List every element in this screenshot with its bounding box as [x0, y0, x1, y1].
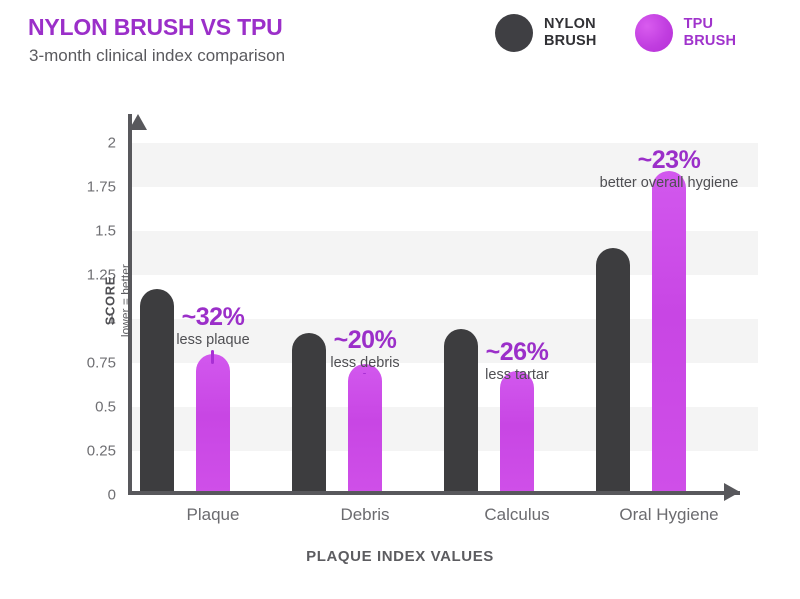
annotation-percent: ~20%	[280, 327, 450, 353]
x-axis-title: PLAQUE INDEX VALUES	[0, 548, 800, 565]
y-axis-tick-label: 0.25	[87, 443, 116, 460]
legend-swatch-nylon-icon	[495, 14, 533, 52]
y-axis-tick-label: 1.75	[87, 179, 116, 196]
annotation-connector-line	[211, 350, 214, 364]
annotation-percent: ~26%	[432, 339, 602, 365]
bar-annotation: ~20%less debris	[280, 327, 450, 373]
bar-annotation: ~23%better overall hygiene	[584, 147, 754, 193]
infographic-chart: NYLON BRUSH VS TPU 3-month clinical inde…	[0, 0, 800, 599]
x-axis-tick-label: Plaque	[128, 505, 298, 525]
bar-group: ~20%less debrisDebris	[286, 139, 438, 491]
bar-tpu[interactable]	[652, 171, 686, 491]
y-axis-tick-label: 2	[108, 135, 116, 152]
legend-label-tpu: TPU BRUSH	[684, 16, 737, 50]
x-axis-line	[128, 491, 740, 495]
x-axis-tick-label: Calculus	[432, 505, 602, 525]
page-subtitle: 3-month clinical index comparison	[29, 46, 285, 66]
bar-tpu[interactable]	[196, 354, 230, 491]
legend-label-tpu-line1: TPU	[684, 16, 714, 32]
bar-group: ~32%less plaquePlaque	[134, 139, 286, 491]
bar-nylon[interactable]	[596, 248, 630, 491]
legend-item-nylon-brush[interactable]: NYLON BRUSH	[495, 14, 597, 52]
legend-label-nylon-line1: NYLON	[544, 16, 596, 32]
bar-annotation: ~32%less plaque	[128, 304, 298, 350]
legend-label-nylon-line2: BRUSH	[544, 33, 597, 49]
legend-label-nylon: NYLON BRUSH	[544, 16, 597, 50]
annotation-percent: ~32%	[128, 304, 298, 330]
page-title: NYLON BRUSH VS TPU	[28, 14, 283, 41]
x-axis-tick-label: Debris	[280, 505, 450, 525]
bar-tpu[interactable]	[348, 364, 382, 491]
x-axis-tick-label: Oral Hygiene	[584, 505, 754, 525]
bar-group: ~23%better overall hygieneOral Hygiene	[590, 139, 742, 491]
bar-annotation: ~26%less tartar	[432, 339, 602, 385]
y-axis-tick-label: 0	[108, 487, 116, 504]
y-axis-arrow-icon	[129, 114, 147, 130]
annotation-caption: better overall hygiene	[584, 175, 754, 193]
y-axis-tick-label: 0.5	[95, 399, 116, 416]
bar-group: ~26%less tartarCalculus	[438, 139, 590, 491]
annotation-caption: less tartar	[432, 367, 602, 385]
bar-tpu[interactable]	[500, 371, 534, 491]
annotation-caption: less debris	[280, 355, 450, 373]
legend-label-tpu-line2: BRUSH	[684, 33, 737, 49]
bar-groups: ~32%less plaquePlaque~20%less debrisDebr…	[134, 139, 740, 491]
chart-legend: NYLON BRUSH TPU BRUSH	[495, 14, 736, 52]
y-axis-label-main: SCORE	[102, 211, 118, 391]
plot-area: 21.751.51.2510.750.50.250 SCORE lower = …	[120, 100, 758, 495]
annotation-caption: less plaque	[128, 332, 298, 350]
legend-swatch-tpu-icon	[635, 14, 673, 52]
legend-item-tpu-brush[interactable]: TPU BRUSH	[635, 14, 737, 52]
annotation-percent: ~23%	[584, 147, 754, 173]
